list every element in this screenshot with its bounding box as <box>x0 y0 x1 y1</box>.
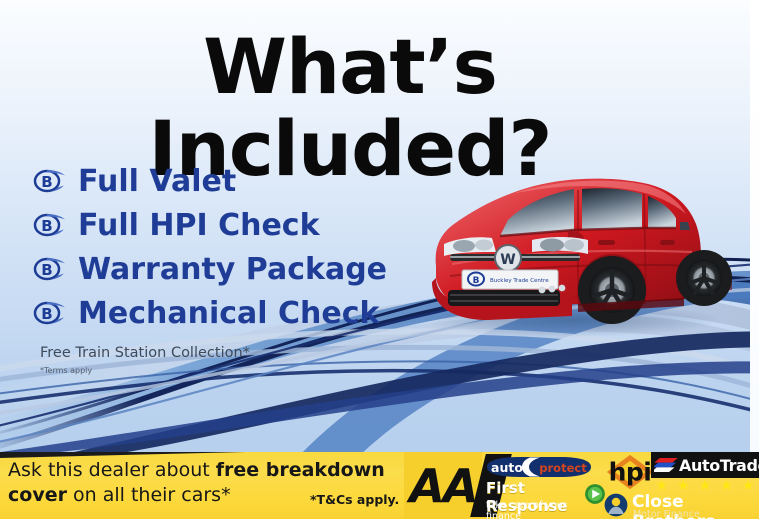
advert-banner: What’s Included? B Full Valet B <box>0 0 759 519</box>
star-icon: ★ <box>677 479 690 491</box>
autoprotect-logo-block: auto protect First Response take care of… <box>484 453 596 519</box>
hpi-logo: hpi <box>604 454 656 490</box>
svg-text:Buckley Trade Centre: Buckley Trade Centre <box>490 278 549 284</box>
buckley-b-logo-icon: B <box>32 167 66 195</box>
included-features-list: B Full Valet B Full HPI Check <box>32 160 387 336</box>
list-item: B Warranty Package <box>32 248 387 290</box>
buckley-b-logo-icon: B <box>32 211 66 239</box>
bottom-partner-banner: Ask this dealer about free breakdown cov… <box>0 452 759 519</box>
list-item: B Full Valet <box>32 160 387 202</box>
terms-note: *Terms apply <box>40 366 92 375</box>
aa-logo-text: AA <box>409 459 476 513</box>
star-icon: ★ <box>742 479 755 491</box>
autotrader-logo-text: AutoTrader <box>679 456 759 475</box>
svg-text:W: W <box>500 252 515 268</box>
list-item-label: Full HPI Check <box>78 208 320 243</box>
banner-text-part-2: on all their cars* <box>67 484 231 506</box>
svg-text:auto: auto <box>491 460 523 475</box>
banner-text-part-1: Ask this dealer about <box>8 459 216 481</box>
list-item-label: Warranty Package <box>78 252 387 287</box>
autoprotect-logo-icon: auto protect <box>484 456 594 478</box>
list-item-label: Mechanical Check <box>78 296 379 331</box>
play-arrow-icon <box>584 483 606 505</box>
star-icon: ★ <box>699 479 712 491</box>
star-icon: ★ <box>720 479 733 491</box>
right-edge-strip <box>750 0 759 452</box>
autotrader-star-rating: ★ ★ ★ ★ ★ <box>651 479 759 491</box>
buckley-b-logo-icon: B <box>32 255 66 283</box>
svg-text:B: B <box>473 276 480 286</box>
aa-logo: AA <box>404 452 482 519</box>
list-item: B Mechanical Check <box>32 292 387 334</box>
buckley-b-logo-icon: B <box>32 299 66 327</box>
svg-text:B: B <box>41 261 52 279</box>
banner-tcs-note: *T&Cs apply. <box>310 492 399 507</box>
collection-note: Free Train Station Collection* <box>40 345 250 361</box>
autotrader-logo: AutoTrader <box>651 452 759 478</box>
close-brothers-logo: Close Brothers Motor Finance <box>604 492 759 519</box>
star-icon: ★ <box>656 479 669 491</box>
svg-text:protect: protect <box>539 461 587 475</box>
first-response-tagline: take care of your finance <box>486 500 596 519</box>
autotrader-flag-icon <box>654 458 678 472</box>
svg-text:B: B <box>41 217 52 235</box>
list-item: B Full HPI Check <box>32 204 387 246</box>
svg-text:B: B <box>41 173 52 191</box>
close-brothers-sub: Motor Finance <box>633 509 700 519</box>
hpi-logo-text: hpi <box>609 458 652 487</box>
close-brothers-circle-icon <box>604 493 628 517</box>
svg-text:B: B <box>41 305 52 323</box>
list-item-label: Full Valet <box>78 164 236 199</box>
